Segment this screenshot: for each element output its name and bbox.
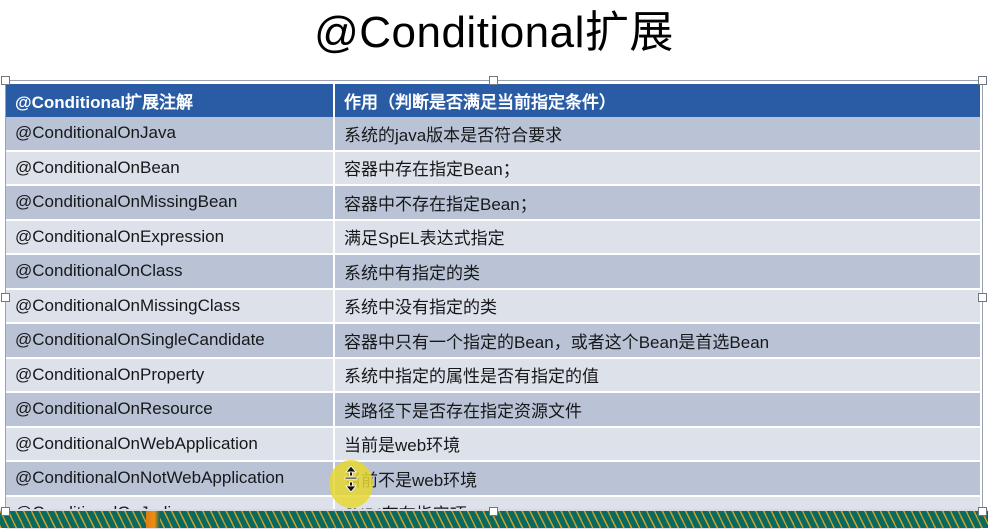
cell-description: 容器中只有一个指定的Bean，或者这个Bean是首选Bean bbox=[334, 323, 980, 358]
cell-description: 满足SpEL表达式指定 bbox=[334, 220, 980, 255]
selection-handle-bottom-center[interactable] bbox=[489, 507, 498, 516]
cell-description: 当前是web环境 bbox=[334, 427, 980, 462]
cell-description: 类路径下是否存在指定资源文件 bbox=[334, 392, 980, 427]
table-row[interactable]: @ConditionalOnWebApplication 当前是web环境 bbox=[6, 427, 980, 462]
cell-annotation: @ConditionalOnProperty bbox=[6, 358, 334, 393]
cell-description: 当前不是web环境 bbox=[334, 461, 980, 496]
selection-handle-top-right[interactable] bbox=[978, 76, 987, 85]
cell-description: 系统中没有指定的类 bbox=[334, 289, 980, 324]
cell-annotation: @ConditionalOnNotWebApplication bbox=[6, 461, 334, 496]
column-header-annotation: @Conditional扩展注解 bbox=[6, 84, 334, 117]
page-title: @Conditional扩展 bbox=[0, 4, 988, 62]
table-row[interactable]: @ConditionalOnMissingBean 容器中不存在指定Bean； bbox=[6, 185, 980, 220]
table-object[interactable]: @Conditional扩展注解 作用（判断是否满足当前指定条件） @Condi… bbox=[5, 80, 983, 512]
selection-handle-middle-right[interactable] bbox=[978, 293, 987, 302]
table-row[interactable]: @ConditionalOnNotWebApplication 当前不是web环… bbox=[6, 461, 980, 496]
cell-annotation: @ConditionalOnJava bbox=[6, 117, 334, 151]
table-row[interactable]: @ConditionalOnJava 系统的java版本是否符合要求 bbox=[6, 117, 980, 151]
selection-handle-top-left[interactable] bbox=[1, 76, 10, 85]
table-row[interactable]: @ConditionalOnBean 容器中存在指定Bean； bbox=[6, 151, 980, 186]
cell-description: 容器中不存在指定Bean； bbox=[334, 185, 980, 220]
cell-annotation: @ConditionalOnClass bbox=[6, 254, 334, 289]
table-header-row: @Conditional扩展注解 作用（判断是否满足当前指定条件） bbox=[6, 84, 980, 117]
cell-description: 系统中指定的属性是否有指定的值 bbox=[334, 358, 980, 393]
conditional-extensions-table[interactable]: @Conditional扩展注解 作用（判断是否满足当前指定条件） @Condi… bbox=[6, 84, 980, 529]
cell-annotation: @ConditionalOnExpression bbox=[6, 220, 334, 255]
table-row[interactable]: @ConditionalOnResource 类路径下是否存在指定资源文件 bbox=[6, 392, 980, 427]
table-row[interactable]: @ConditionalOnProperty 系统中指定的属性是否有指定的值 bbox=[6, 358, 980, 393]
cell-description: 系统中有指定的类 bbox=[334, 254, 980, 289]
cell-annotation: @ConditionalOnMissingClass bbox=[6, 289, 334, 324]
cell-annotation: @ConditionalOnBean bbox=[6, 151, 334, 186]
table-row[interactable]: @ConditionalOnSingleCandidate 容器中只有一个指定的… bbox=[6, 323, 980, 358]
band-orange-accent bbox=[146, 511, 160, 528]
column-header-description: 作用（判断是否满足当前指定条件） bbox=[334, 84, 980, 117]
table-row[interactable]: @ConditionalOnExpression 满足SpEL表达式指定 bbox=[6, 220, 980, 255]
selection-handle-middle-left[interactable] bbox=[1, 293, 10, 302]
cell-annotation: @ConditionalOnMissingBean bbox=[6, 185, 334, 220]
selection-handle-bottom-right[interactable] bbox=[978, 507, 987, 516]
table-row[interactable]: @ConditionalOnMissingClass 系统中没有指定的类 bbox=[6, 289, 980, 324]
table-row[interactable]: @ConditionalOnClass 系统中有指定的类 bbox=[6, 254, 980, 289]
cell-description: 系统的java版本是否符合要求 bbox=[334, 117, 980, 151]
cell-annotation: @ConditionalOnWebApplication bbox=[6, 427, 334, 462]
selection-handle-bottom-left[interactable] bbox=[1, 507, 10, 516]
selection-handle-top-center[interactable] bbox=[489, 76, 498, 85]
cell-annotation: @ConditionalOnResource bbox=[6, 392, 334, 427]
cell-description: 容器中存在指定Bean； bbox=[334, 151, 980, 186]
cell-annotation: @ConditionalOnSingleCandidate bbox=[6, 323, 334, 358]
